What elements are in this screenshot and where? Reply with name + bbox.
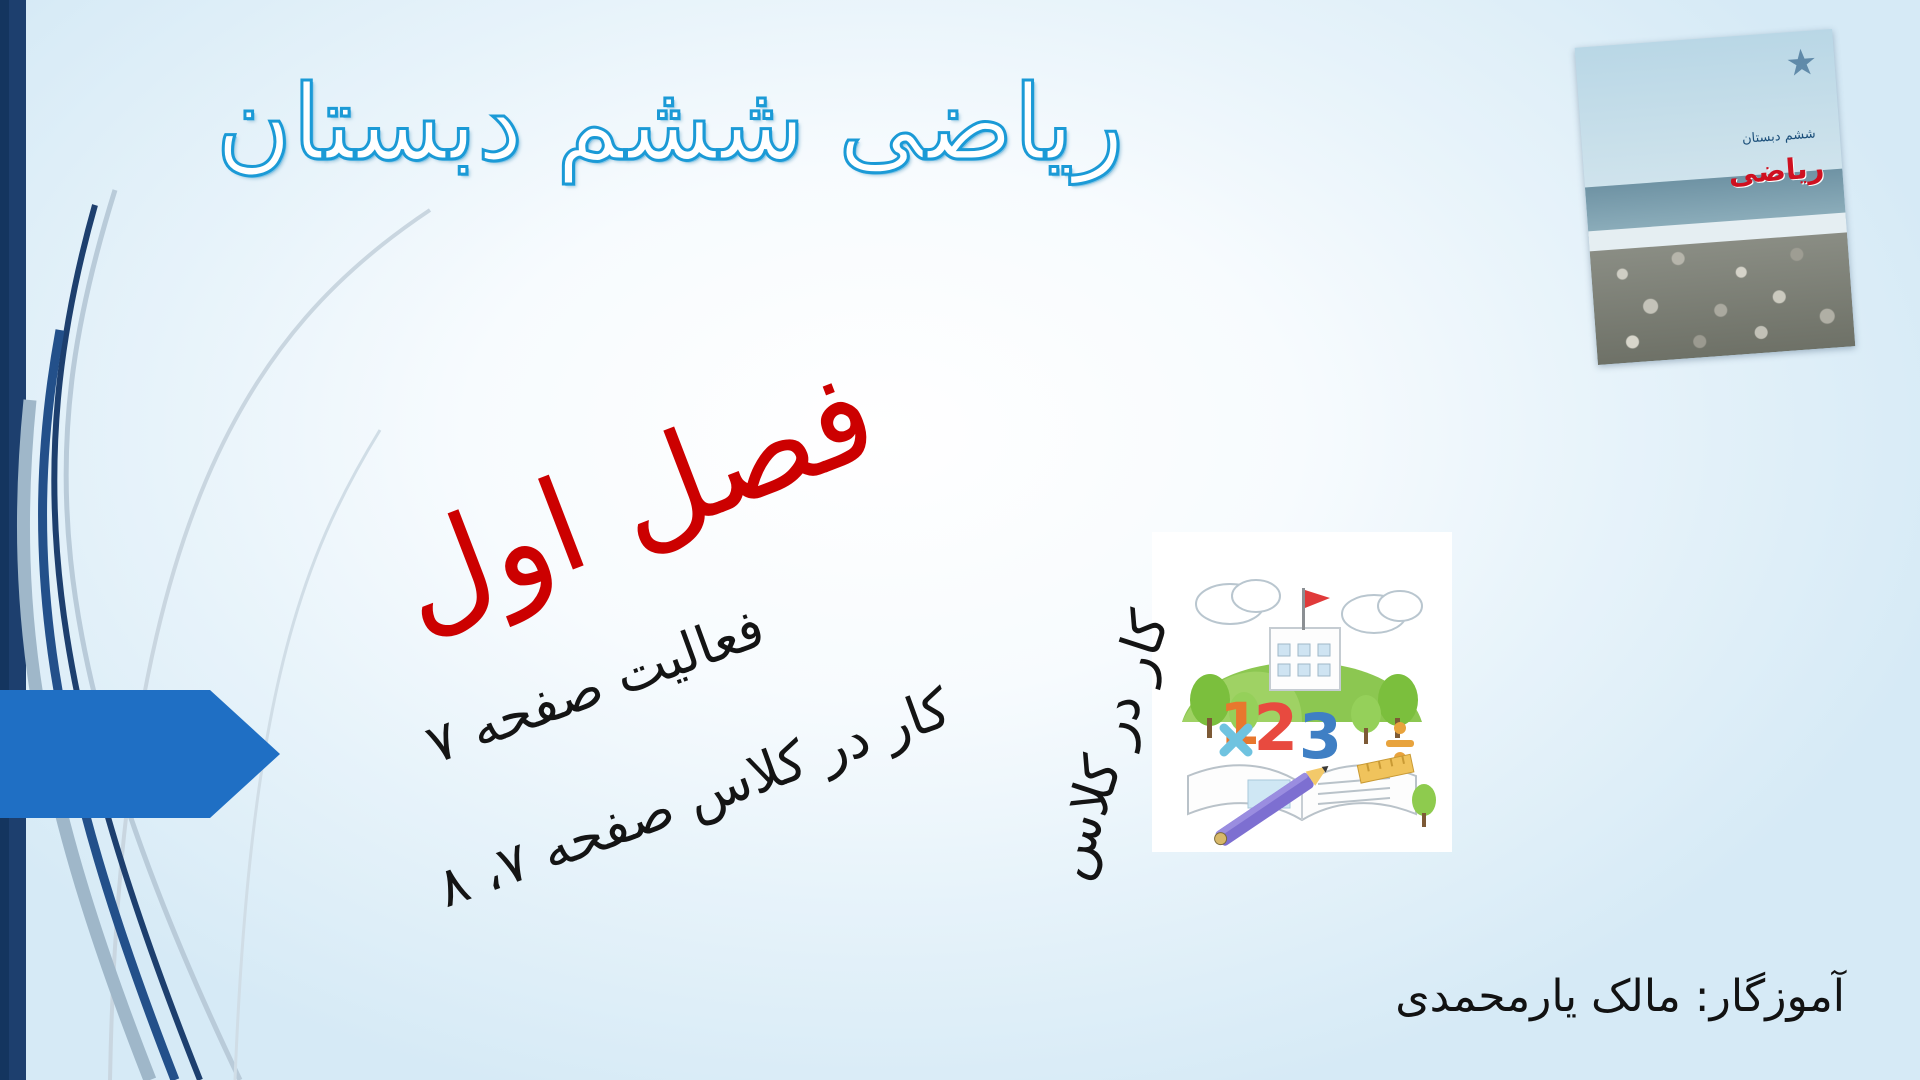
textbook-cover-image: ششم دبستان ریاضی <box>1575 29 1856 365</box>
cover-subject-label: ریاضی <box>1727 150 1825 191</box>
blue-arrow-band <box>0 690 280 818</box>
svg-text:3: 3 <box>1299 700 1342 773</box>
ministry-emblem-icon <box>1783 44 1819 80</box>
teacher-credit: آموزگار: مالک یارمحمدی <box>1395 971 1845 1022</box>
page-title: ریاضی ششم دبستان <box>0 58 1340 188</box>
cover-pebbles <box>1590 232 1856 365</box>
svg-text:2: 2 <box>1253 692 1298 766</box>
chapter-heading: فصل اول <box>375 340 895 658</box>
math-books-numbers-icon: 1 2 3 <box>1152 532 1452 852</box>
presentation-slide: ریاضی ششم دبستان ششم دبستان ریاضی فصل او… <box>0 0 1920 1080</box>
